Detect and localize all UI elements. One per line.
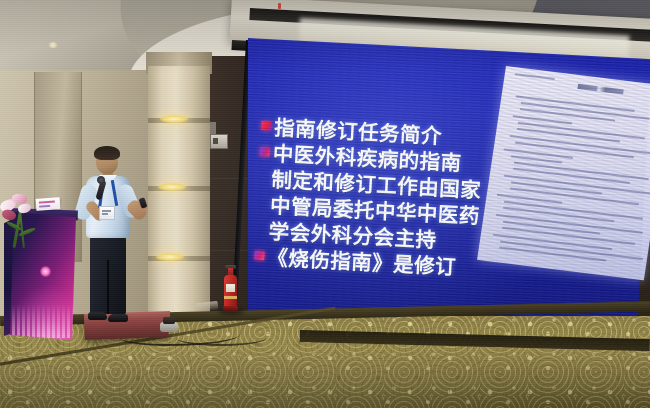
column-uplight-icon xyxy=(160,115,188,123)
slide-text-block: 指南修订任务简介 中医外科疾病的指南 制定和修订工作由国家 中管局委托中华中医药… xyxy=(254,112,512,281)
bullet-marker-icon xyxy=(260,146,270,156)
ceiling-indicator-led xyxy=(278,3,281,9)
document-moire-overlay xyxy=(477,66,650,280)
led-screen: 指南修订任务简介 中医外科疾病的指南 制定和修订工作由国家 中管局委托中华中医药… xyxy=(248,38,650,338)
extinguisher-label xyxy=(226,284,235,292)
bullet-marker-icon xyxy=(254,250,264,260)
flower-arrangement xyxy=(0,186,42,252)
floor-outlet-cap xyxy=(163,317,175,324)
bullet-spacer xyxy=(258,172,268,182)
floor-cable xyxy=(176,330,266,346)
wall-control-panel[interactable] xyxy=(210,134,228,149)
extinguisher-band xyxy=(224,296,237,299)
conference-photo: 指南修订任务简介 中医外科疾病的指南 制定和修订工作由国家 中管局委托中华中医药… xyxy=(0,0,650,408)
microphone-head-icon xyxy=(97,176,105,184)
id-badge xyxy=(99,206,115,220)
lectern-star-graphic xyxy=(40,266,51,277)
presenter-shoe-right xyxy=(108,314,128,322)
presenter-shoe-left xyxy=(88,312,107,320)
column-uplight-icon xyxy=(158,183,186,191)
presenter xyxy=(72,148,150,338)
flower-petal xyxy=(1,208,18,223)
bullet-marker-icon xyxy=(261,120,271,130)
slide-document-image xyxy=(477,66,650,280)
column-uplight-icon xyxy=(156,253,184,261)
bullet-spacer xyxy=(257,198,267,208)
presenter-leg-split xyxy=(107,260,109,314)
downlight-icon xyxy=(48,42,58,48)
bullet-spacer xyxy=(256,224,266,234)
extinguisher-base xyxy=(223,306,238,311)
flower-petal xyxy=(17,203,31,214)
lectern-skyline-graphic xyxy=(12,304,76,338)
presenter-hair xyxy=(94,146,120,160)
fire-extinguisher-icon xyxy=(224,275,237,309)
